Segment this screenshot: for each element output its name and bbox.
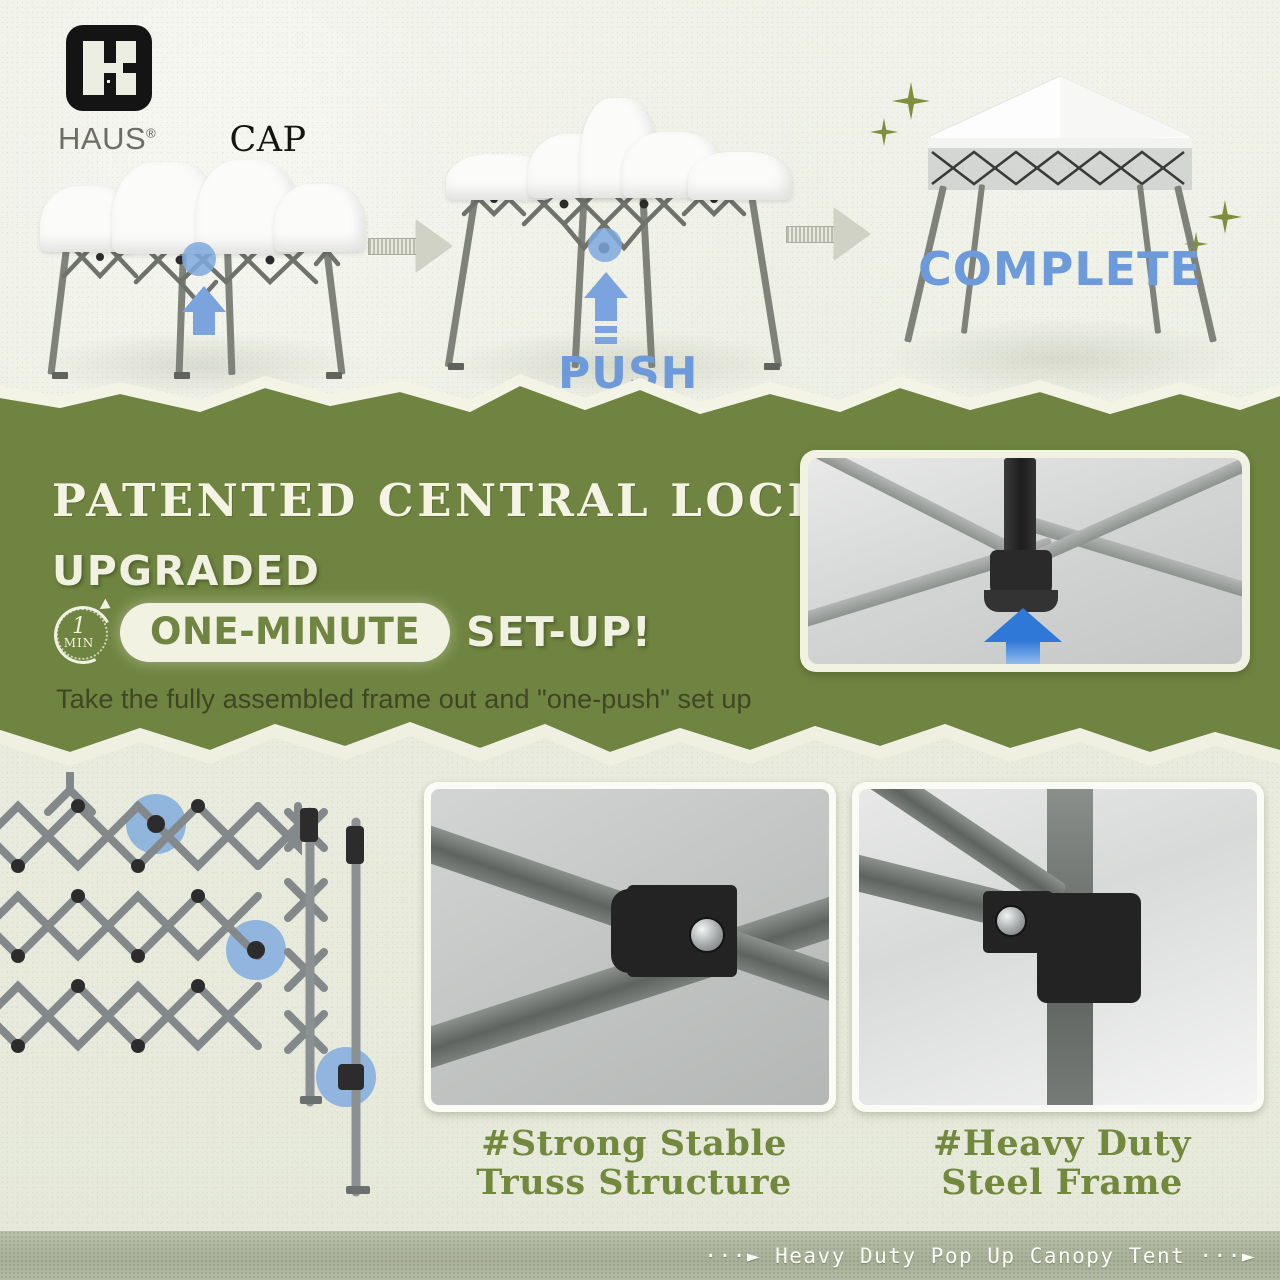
- banner-note: Take the fully assembled frame out and "…: [56, 684, 752, 715]
- footer-label: ···► Heavy Duty Pop Up Canopy Tent ···►: [704, 1231, 1256, 1280]
- sidebar-item-step-collapsed: [30, 140, 370, 400]
- feature-caption-line1: #Heavy Duty: [852, 1124, 1272, 1163]
- banner-content: PATENTED CENTRAL LOCK UPGRADED 1 MIN ONE…: [0, 372, 1280, 778]
- feature-caption-line2: Steel Frame: [852, 1163, 1272, 1202]
- bottom-section: #Strong Stable Truss Structure #Heavy Du…: [0, 772, 1280, 1280]
- setup-text: SET-UP!: [466, 608, 652, 656]
- clock-refresh-icon: 1 MIN: [50, 600, 114, 664]
- one-minute-badge: ONE-MINUTE: [120, 603, 450, 662]
- blue-up-arrow-icon: [182, 286, 226, 338]
- one-minute-row: 1 MIN ONE-MINUTE SET-UP!: [50, 600, 652, 664]
- footer-bar: ···► Heavy Duty Pop Up Canopy Tent ···►: [0, 1231, 1280, 1280]
- feature-caption-steel: #Heavy Duty Steel Frame: [852, 1124, 1272, 1202]
- sidebar-item-step-complete: COMPLETE: [870, 60, 1250, 400]
- truss-lattice: [870, 148, 1250, 218]
- setup-steps-strip: PUSH: [0, 60, 1280, 400]
- clock-unit: MIN: [50, 636, 108, 650]
- blue-circle-highlight: [588, 228, 622, 262]
- truss-joint-photo: [424, 782, 836, 1112]
- infographic-page: CAPHAUS®: [0, 0, 1280, 1280]
- banner-headline: PATENTED CENTRAL LOCK: [52, 474, 830, 527]
- central-lock-photo: [800, 450, 1250, 672]
- right-arrow-icon: [786, 208, 872, 260]
- feature-caption-line1: #Strong Stable: [424, 1124, 844, 1163]
- feature-caption-truss: #Strong Stable Truss Structure: [424, 1124, 844, 1202]
- steel-frame-photo: [852, 782, 1264, 1112]
- feature-caption-line2: Truss Structure: [424, 1163, 844, 1202]
- banner-subhead: UPGRADED: [52, 547, 320, 595]
- blue-up-arrow-icon: [584, 272, 628, 348]
- folding-frame-illustration: [0, 772, 408, 1202]
- sidebar-item-step-push: PUSH: [432, 80, 802, 400]
- step-label-complete: COMPLETE: [918, 242, 1202, 296]
- blue-circle-highlight: [182, 242, 216, 276]
- blue-up-arrow-icon: [984, 608, 1062, 664]
